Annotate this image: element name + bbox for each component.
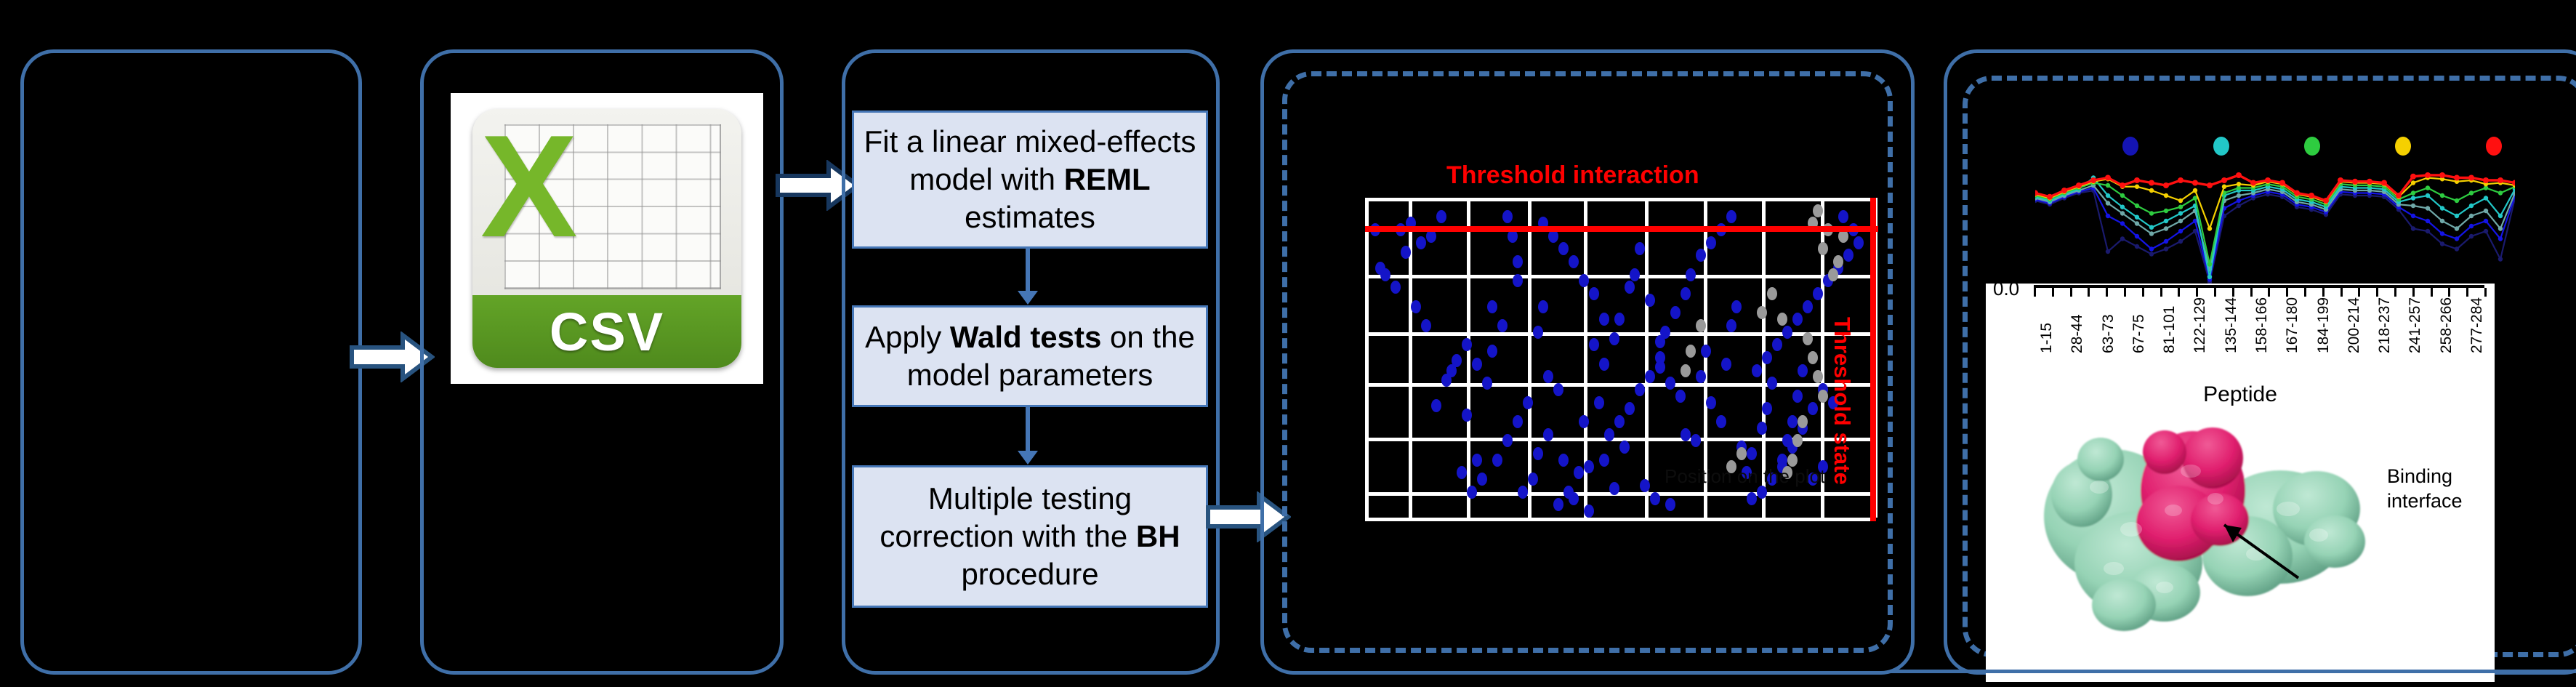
scatter-ghost-axis-label: Position on the plot xyxy=(1665,465,1825,488)
step3-bold: BH xyxy=(1136,519,1180,553)
scatter-point xyxy=(1477,473,1487,486)
line-marker xyxy=(2163,182,2169,188)
line-marker xyxy=(2426,193,2430,198)
line-marker xyxy=(2164,193,2168,198)
scatter-point xyxy=(1640,479,1650,492)
line-marker xyxy=(2149,231,2154,236)
scatter-point xyxy=(1569,255,1579,268)
line-marker xyxy=(2120,236,2125,241)
line-marker xyxy=(2323,198,2329,204)
line-marker xyxy=(2193,188,2197,193)
peptide-tick-label: 241-257 xyxy=(2407,297,2424,353)
line-marker xyxy=(2294,190,2300,196)
scatter-point xyxy=(1782,326,1792,339)
scatter-point xyxy=(1502,210,1513,223)
scatter-point xyxy=(1701,345,1711,358)
line-marker xyxy=(2237,204,2241,208)
axis-tick xyxy=(2431,288,2433,297)
bottom-divider-rule xyxy=(1890,670,2576,673)
axis-tick xyxy=(2448,288,2450,297)
line-marker xyxy=(2484,219,2488,223)
axis-tick xyxy=(2304,288,2306,297)
peptide-tick-label: 184-199 xyxy=(2315,297,2333,353)
line-marker xyxy=(2047,194,2053,200)
scatter-point xyxy=(1813,204,1823,217)
scatter-point xyxy=(1482,377,1492,390)
line-marker xyxy=(2076,182,2082,188)
line-marker xyxy=(2178,211,2183,215)
line-marker xyxy=(2178,219,2183,223)
peptide-axis-title: Peptide xyxy=(1986,382,2495,407)
line-marker xyxy=(2484,229,2488,233)
step1-suffix: estimates xyxy=(965,200,1095,234)
line-marker xyxy=(2192,180,2198,186)
vertical-threshold-label: Threshold state xyxy=(1829,317,1855,485)
scatter-point xyxy=(1808,402,1818,415)
scatter-point xyxy=(1777,313,1787,326)
csv-label-band: CSV xyxy=(472,295,741,368)
method-step-fit-model[interactable]: Fit a linear mixed-effects model with RE… xyxy=(852,111,1208,249)
line-marker xyxy=(2106,183,2110,188)
line-chart-legend xyxy=(2035,137,2515,156)
scatter-point xyxy=(1513,255,1523,268)
scatter-point xyxy=(1630,268,1640,281)
line-marker xyxy=(2106,201,2110,205)
scatter-point xyxy=(1533,447,1543,460)
scatter-point xyxy=(1579,415,1589,428)
scatter-point xyxy=(1726,319,1736,332)
line-marker xyxy=(2381,180,2387,186)
line-marker xyxy=(2484,196,2488,200)
line-marker xyxy=(2135,185,2139,189)
line-marker xyxy=(2237,182,2241,186)
line-marker xyxy=(2426,229,2430,233)
axis-tick xyxy=(2034,288,2036,297)
line-marker xyxy=(2483,177,2489,183)
line-marker xyxy=(2426,185,2430,190)
axis-tick xyxy=(2250,288,2253,297)
line-marker xyxy=(2455,246,2459,251)
axis-tick xyxy=(2106,288,2108,297)
line-marker xyxy=(2061,188,2067,193)
scatter-point xyxy=(1543,428,1553,441)
scatter-point xyxy=(1421,319,1431,332)
legend-dot-t2 xyxy=(2213,137,2229,156)
axis-tick xyxy=(2484,288,2487,297)
scatter-point xyxy=(1584,505,1594,518)
line-marker xyxy=(2338,177,2343,183)
scatter-plot-title: Threshold interaction xyxy=(1446,161,1699,190)
peptide-tick-label: 200-214 xyxy=(2346,297,2363,353)
line-marker xyxy=(2484,209,2488,213)
line-marker xyxy=(2411,226,2415,230)
csv-label-text: CSV xyxy=(550,301,664,363)
line-marker xyxy=(2498,190,2503,195)
scatter-point xyxy=(1767,287,1777,300)
line-marker xyxy=(2455,214,2459,218)
scatter-point xyxy=(1706,396,1716,409)
scatter-point xyxy=(1681,287,1691,300)
peptide-tick-label: 81-101 xyxy=(2161,306,2178,353)
peptide-tick-label: 1-15 xyxy=(2038,323,2056,353)
scatter-point xyxy=(1604,428,1614,441)
scatter-point xyxy=(1528,473,1538,486)
scatter-point xyxy=(1625,402,1635,415)
scatter-point xyxy=(1502,434,1513,447)
axis-tick xyxy=(2214,288,2216,297)
peptide-axis-card: 0.0 Peptide xyxy=(1986,284,2495,682)
scatter-point xyxy=(1767,377,1777,390)
binding-label-line2: interface xyxy=(2387,489,2463,513)
axis-tick xyxy=(2376,288,2378,297)
scatter-point xyxy=(1574,466,1584,479)
line-marker xyxy=(2134,177,2140,183)
line-marker xyxy=(2411,214,2415,218)
line-marker xyxy=(2149,180,2154,186)
step1-bold: REML xyxy=(1064,162,1151,196)
scatter-gridline-vertical xyxy=(1365,198,1369,518)
binding-interface-label: Binding interface xyxy=(2387,464,2463,513)
peptide-tick-label: 167-180 xyxy=(2284,297,2301,353)
line-marker xyxy=(2178,239,2183,244)
scatter-point xyxy=(1660,326,1670,339)
line-marker xyxy=(2164,226,2168,230)
peptide-tick-label: 277-284 xyxy=(2468,297,2486,353)
scatter-point xyxy=(1803,300,1813,313)
line-marker xyxy=(2279,180,2285,186)
scatter-point xyxy=(1731,300,1742,313)
line-marker xyxy=(2149,225,2154,230)
scatter-point xyxy=(1752,364,1762,377)
scatter-point xyxy=(1411,300,1421,313)
scatter-point xyxy=(1401,246,1411,259)
scatter-gridline-horizontal xyxy=(1365,518,1874,521)
scatter-point xyxy=(1818,242,1828,255)
line-marker xyxy=(2439,172,2445,178)
line-marker xyxy=(2498,257,2503,261)
line-marker xyxy=(2309,193,2314,198)
scatter-point xyxy=(1681,428,1691,441)
scatter-point xyxy=(1716,415,1726,428)
method-step-bh-correction[interactable]: Multiple testing correction with the BH … xyxy=(852,465,1208,608)
scatter-point xyxy=(1792,390,1803,403)
scatter-point xyxy=(1513,274,1523,287)
scatter-point xyxy=(1747,492,1757,505)
scatter-point xyxy=(1772,338,1782,351)
scatter-point xyxy=(1818,390,1828,403)
line-marker xyxy=(2469,234,2474,238)
scatter-point xyxy=(1487,345,1497,358)
scatter-point xyxy=(1497,319,1508,332)
scatter-point xyxy=(1853,236,1864,249)
scatter-point xyxy=(1599,313,1609,326)
scatter-point xyxy=(1808,351,1818,364)
legend-dot-t5 xyxy=(2486,137,2502,156)
peptide-tick-label: 63-73 xyxy=(2100,314,2117,353)
scatter-point xyxy=(1584,460,1594,473)
peptide-tick-label: 135-144 xyxy=(2223,297,2240,353)
axis-tick xyxy=(2124,288,2126,297)
scatter-point xyxy=(1563,486,1574,499)
line-marker xyxy=(2207,226,2212,230)
arrow-step1-to-step2 xyxy=(1026,249,1030,292)
axis-tick xyxy=(2340,288,2343,297)
line-marker xyxy=(2250,180,2256,186)
line-marker xyxy=(2425,172,2431,178)
line-marker xyxy=(2411,204,2415,208)
line-marker xyxy=(2135,221,2139,225)
scatter-point xyxy=(1675,390,1686,403)
scatter-point xyxy=(1589,338,1599,351)
scatter-point xyxy=(1843,249,1853,262)
scatter-point xyxy=(1599,454,1609,467)
peptide-tick-label: 158-166 xyxy=(2253,297,2271,353)
line-marker xyxy=(2237,193,2241,198)
line-marker xyxy=(2120,211,2125,215)
scatter-point xyxy=(1686,268,1696,281)
scatter-gridline-horizontal xyxy=(1365,492,1874,496)
method-step-wald-tests[interactable]: Apply Wald tests on the model parameters xyxy=(852,305,1208,407)
line-marker xyxy=(2440,219,2444,223)
scatter-point xyxy=(1686,345,1696,358)
line-marker xyxy=(2440,241,2444,246)
line-marker xyxy=(2265,177,2271,183)
scatter-gridline-vertical xyxy=(1528,198,1531,518)
line-marker xyxy=(2498,236,2503,241)
scatter-point xyxy=(1792,434,1803,447)
axis-tick xyxy=(2358,288,2360,297)
line-marker xyxy=(2149,252,2154,256)
scatter-point xyxy=(1798,415,1808,428)
line-marker xyxy=(2120,193,2125,198)
line-marker xyxy=(2237,198,2241,203)
line-marker xyxy=(2497,177,2503,183)
scatter-point xyxy=(1762,351,1772,364)
line-marker xyxy=(2396,193,2402,198)
scatter-point xyxy=(1594,396,1604,409)
axis-tick xyxy=(2322,288,2325,297)
scatter-point xyxy=(1650,492,1660,505)
line-marker xyxy=(2468,175,2474,181)
scatter-point xyxy=(1721,358,1731,371)
scatter-point xyxy=(1553,383,1563,396)
binding-label-line1: Binding xyxy=(2387,464,2463,489)
line-marker xyxy=(2207,275,2212,279)
axis-tick xyxy=(2268,288,2270,297)
scatter-point xyxy=(1706,236,1716,249)
line-marker xyxy=(2135,234,2139,238)
scatter-point xyxy=(1792,313,1803,326)
vertical-threshold-line xyxy=(1870,198,1876,521)
line-marker xyxy=(2120,182,2125,188)
scatter-point xyxy=(1813,287,1823,300)
scatter-point xyxy=(1670,306,1681,319)
line-marker xyxy=(2106,249,2110,254)
scatter-point xyxy=(1665,498,1675,511)
step2-prefix: Apply xyxy=(865,320,950,354)
scatter-point xyxy=(1436,210,1446,223)
step3-suffix: procedure xyxy=(961,557,1098,591)
line-marker xyxy=(2498,214,2503,218)
scatter-point xyxy=(1390,281,1401,294)
line-marker xyxy=(2164,209,2168,213)
scatter-gridline-vertical xyxy=(1409,198,1412,518)
scatter-point xyxy=(1543,370,1553,383)
line-marker xyxy=(2411,180,2415,185)
scatter-point xyxy=(1787,415,1798,428)
line-marker xyxy=(2469,190,2474,195)
line-marker xyxy=(2411,190,2415,195)
axis-tick xyxy=(2088,288,2090,297)
scatter-point xyxy=(1681,364,1691,377)
csv-x-letter: X xyxy=(480,114,577,260)
line-marker xyxy=(2178,229,2183,233)
scatter-point xyxy=(1457,466,1467,479)
axis-tick xyxy=(2232,288,2234,297)
scatter-point xyxy=(1558,454,1569,467)
step2-bold: Wald tests xyxy=(950,320,1101,354)
line-marker xyxy=(2455,198,2459,203)
line-marker xyxy=(2164,246,2168,251)
arrow-step2-to-step3 xyxy=(1026,407,1030,452)
legend-dot-t1 xyxy=(2122,137,2138,156)
line-marker xyxy=(2207,262,2212,266)
line-marker xyxy=(2120,205,2125,209)
line-marker xyxy=(2221,177,2227,183)
scatter-point xyxy=(1762,402,1772,415)
scatter-point xyxy=(1635,242,1645,255)
line-marker xyxy=(2149,188,2154,193)
scatter-point xyxy=(1513,415,1523,428)
scatter-point xyxy=(1833,255,1843,268)
line-marker xyxy=(2455,226,2459,230)
line-marker xyxy=(2135,204,2139,208)
axis-tick xyxy=(2178,288,2180,297)
scatter-point xyxy=(1838,210,1848,223)
scatter-point xyxy=(1553,498,1563,511)
peptide-uptake-line-chart xyxy=(2035,160,2515,287)
scatter-point xyxy=(1665,377,1675,390)
legend-dot-t3 xyxy=(2304,137,2320,156)
line-marker xyxy=(2178,177,2183,183)
line-marker xyxy=(2106,214,2110,218)
line-marker xyxy=(2455,236,2459,241)
axis-tick xyxy=(2286,288,2288,297)
scatter-gridline-horizontal xyxy=(1365,383,1874,387)
peptide-tick-label: 67-75 xyxy=(2130,314,2148,353)
line-marker xyxy=(2222,185,2226,189)
axis-tick xyxy=(2070,288,2072,297)
line-marker xyxy=(2164,219,2168,223)
scatter-gridline-horizontal xyxy=(1365,332,1874,336)
line-marker xyxy=(2207,182,2213,188)
peptide-tick-label: 122-129 xyxy=(2191,297,2209,353)
line-marker xyxy=(2426,206,2430,210)
scatter-point xyxy=(1696,319,1706,332)
line-marker xyxy=(2178,198,2183,203)
scatter-point xyxy=(1645,294,1655,307)
line-marker xyxy=(2178,205,2183,209)
scatter-point xyxy=(1492,454,1502,467)
scatter-point xyxy=(1472,454,1482,467)
axis-tick xyxy=(2196,288,2198,297)
scatter-point xyxy=(1645,370,1655,383)
scatter-point xyxy=(1747,447,1757,460)
y-axis-label-fragment: 0.0 xyxy=(1993,284,2019,300)
line-marker xyxy=(2135,244,2139,249)
scatter-point xyxy=(1380,268,1390,281)
scatter-point xyxy=(1609,332,1619,345)
scatter-point xyxy=(1523,396,1533,409)
line-marker xyxy=(2498,226,2503,230)
scatter-point xyxy=(1487,300,1497,313)
scatter-point xyxy=(1635,383,1645,396)
scatter-point xyxy=(1736,447,1747,460)
line-marker xyxy=(2149,246,2154,251)
line-series-steelblue xyxy=(2035,185,2515,270)
line-marker xyxy=(2469,204,2474,208)
scatter-point xyxy=(1431,399,1441,412)
scatter-gridline-vertical xyxy=(1645,198,1649,518)
data-source-panel xyxy=(20,49,362,675)
horizontal-threshold-line xyxy=(1365,226,1878,232)
axis-tick xyxy=(2466,288,2468,297)
legend-dot-t4 xyxy=(2395,137,2411,156)
line-marker xyxy=(2106,193,2110,198)
axis-tick xyxy=(2142,288,2144,297)
line-marker xyxy=(2440,193,2444,198)
scatter-point xyxy=(1625,281,1635,294)
line-marker xyxy=(2090,177,2096,183)
scatter-point xyxy=(1533,326,1543,339)
line-marker xyxy=(2469,214,2474,218)
axis-tick xyxy=(2160,288,2162,297)
line-marker xyxy=(2410,174,2416,180)
scatter-point xyxy=(1518,486,1528,499)
line-marker xyxy=(2352,179,2358,185)
peptide-tick-label: 258-266 xyxy=(2438,297,2455,353)
scatter-point xyxy=(1619,441,1630,454)
scatter-point xyxy=(1467,486,1477,499)
scatter-point xyxy=(1589,287,1599,300)
scatter-point xyxy=(1614,415,1625,428)
scatter-point xyxy=(1558,242,1569,255)
line-marker xyxy=(2135,215,2139,220)
line-marker xyxy=(2440,206,2444,210)
csv-file-icon: X CSV xyxy=(451,93,763,384)
scatter-point xyxy=(1828,268,1838,281)
line-marker xyxy=(2426,219,2430,223)
scatter-point xyxy=(1538,300,1548,313)
scatter-point xyxy=(1726,210,1736,223)
scatter-point xyxy=(1416,236,1426,249)
scatter-point xyxy=(1757,422,1767,435)
axis-tick xyxy=(2394,288,2396,297)
line-marker xyxy=(2440,231,2444,236)
step3-prefix: Multiple testing correction with the xyxy=(880,481,1136,553)
peptide-tick-label: 218-237 xyxy=(2376,297,2394,353)
line-marker xyxy=(2149,211,2154,215)
line-marker xyxy=(2367,179,2372,185)
scatter-gridline-vertical xyxy=(1467,198,1470,518)
line-marker xyxy=(2454,175,2460,181)
line-marker xyxy=(2164,239,2168,244)
peptide-tick-label: 28-44 xyxy=(2069,314,2086,353)
protein-structure-image xyxy=(2029,407,2371,647)
scatter-point xyxy=(1655,351,1665,364)
line-marker xyxy=(2236,172,2242,178)
line-marker xyxy=(2120,221,2125,225)
